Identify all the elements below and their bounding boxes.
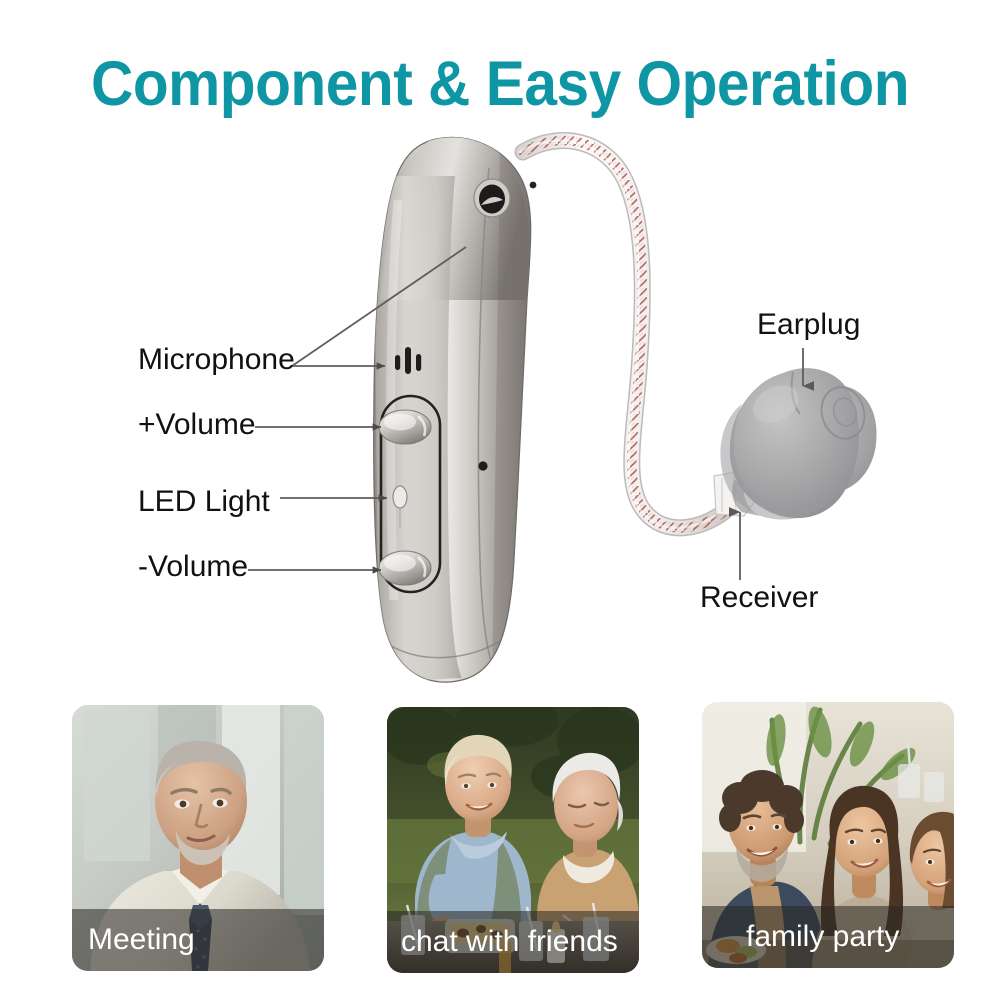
photo-caption-bar-meeting: Meeting [72, 909, 324, 971]
callout-label-receiver: Receiver [700, 583, 818, 613]
callout-label-volume-up: +Volume [138, 410, 256, 440]
top-microphone-port [474, 179, 510, 217]
photo-card-family-party[interactable]: family party [702, 702, 954, 968]
callout-label-volume-down: -Volume [138, 552, 248, 582]
photo-caption-meeting: Meeting [72, 925, 195, 955]
photo-caption-bar-family-party: family party [702, 906, 954, 968]
photo-card-chat-with-friends[interactable]: chat with friends [387, 707, 639, 973]
volume-up-button[interactable] [379, 410, 431, 444]
callout-label-earplug: Earplug [757, 310, 860, 340]
infographic-page: Component & Easy Operation [0, 0, 1000, 1000]
earplug-dome [714, 368, 877, 519]
hearing-aid-body [374, 135, 537, 690]
callout-label-microphone: Microphone [138, 345, 295, 375]
program-hole [478, 461, 487, 470]
lifestyle-photo-row: Meeting [0, 700, 1000, 1000]
photo-caption-chat-with-friends: chat with friends [387, 927, 618, 957]
callout-label-led-light: LED Light [138, 487, 270, 517]
product-diagram: Microphone +Volume LED Light -Volume Ear… [0, 0, 1000, 700]
photo-caption-bar-chat-with-friends: chat with friends [387, 911, 639, 973]
volume-down-button[interactable] [379, 551, 431, 585]
photo-caption-family-party: family party [702, 922, 899, 952]
receiver-wire [520, 141, 724, 528]
photo-card-meeting[interactable]: Meeting [72, 705, 324, 971]
vent-hole [530, 182, 537, 189]
